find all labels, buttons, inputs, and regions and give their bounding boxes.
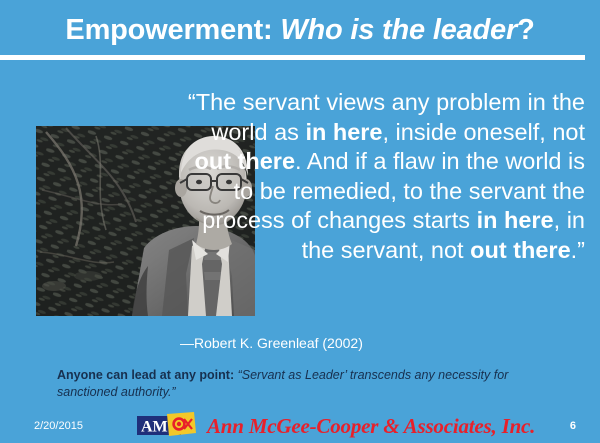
footer-date: 2/20/2015 (34, 419, 83, 433)
quote-open-mark: “ (188, 89, 196, 115)
title-trail: ? (517, 14, 535, 46)
bottom-note: Anyone can lead at any point: “Servant a… (57, 367, 547, 401)
title-underline-rule (0, 55, 585, 60)
quote-attribution: —Robert K. Greenleaf (2002) (180, 334, 585, 352)
quote-emphasis-in-here-2: in here (477, 207, 554, 233)
slide-canvas: Empowerment: Who is the leader? (0, 0, 600, 443)
title-lead: Empowerment: (65, 14, 280, 46)
quote-block: “The servant views any problem in the wo… (180, 88, 585, 265)
slide-page-number: 6 (570, 419, 576, 433)
quote-seg-2: , inside oneself, not (383, 119, 586, 145)
quote-emphasis-out-there-2: out there (470, 237, 571, 263)
slide-title: Empowerment: Who is the leader? (0, 8, 600, 54)
quote-text: “The servant views any problem in the wo… (180, 88, 585, 265)
quote-emphasis-out-there-1: out there (194, 148, 295, 174)
bottom-note-lead: Anyone can lead at any point: (57, 368, 234, 382)
title-emphasis: Who is the leader (280, 14, 517, 46)
quote-close-mark: ” (577, 237, 585, 263)
title-text: Empowerment: Who is the leader? (65, 14, 534, 46)
company-name: Ann McGee-Cooper & Associates, Inc. (207, 414, 535, 439)
svg-text:AM: AM (141, 419, 168, 436)
amca-logo: AM (137, 412, 207, 439)
quote-emphasis-in-here-1: in here (305, 119, 382, 145)
